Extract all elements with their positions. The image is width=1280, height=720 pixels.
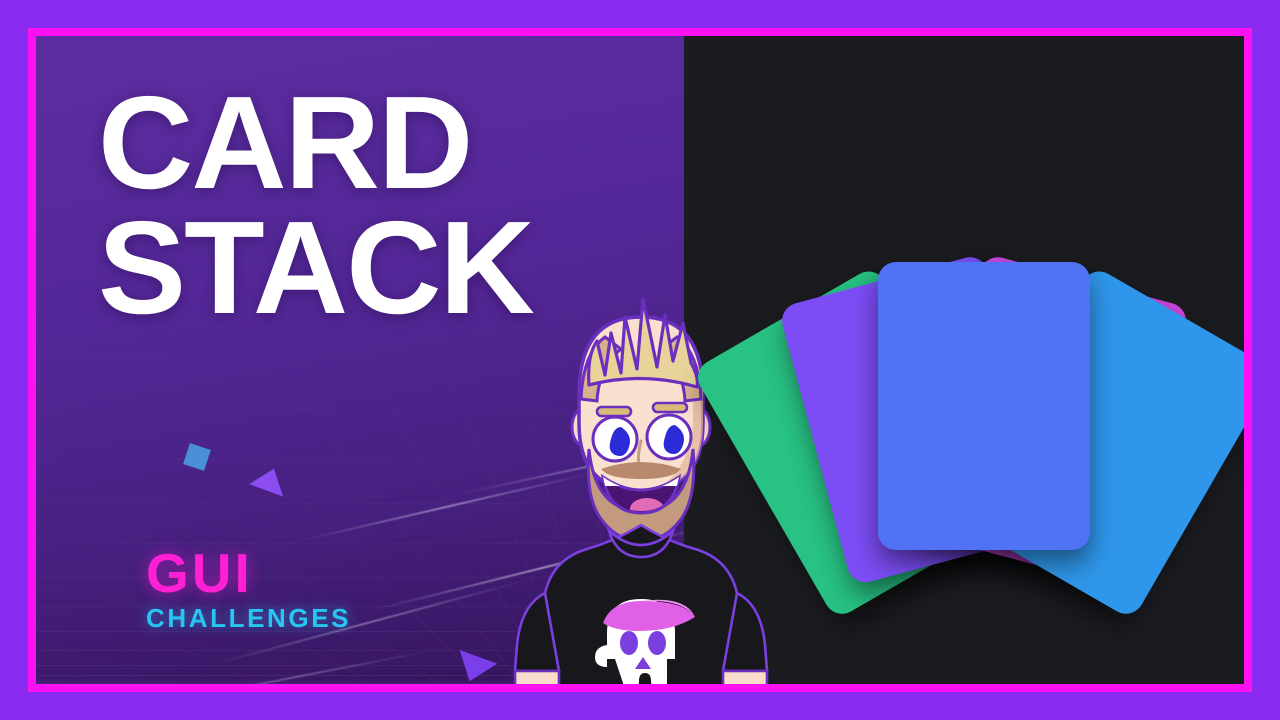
eyebrow-left: [597, 407, 631, 416]
arm-right: [723, 671, 767, 684]
card-blue-front[interactable]: [878, 262, 1090, 550]
brand-logo: GUI CHALLENGES: [146, 546, 351, 631]
eyebrow-right: [653, 403, 687, 412]
skull-eye-right: [648, 631, 666, 655]
card-stack: [726, 216, 1244, 646]
arm-left: [515, 671, 559, 684]
thumbnail-canvas: CARD STACK GUI CHALLENGES: [0, 0, 1280, 720]
logo-secondary-text: CHALLENGES: [146, 605, 351, 631]
content-area: CARD STACK GUI CHALLENGES: [36, 36, 1244, 684]
skull-eye-left: [620, 631, 638, 655]
page-title: CARD STACK: [98, 80, 533, 331]
logo-primary-text: GUI: [146, 546, 351, 601]
